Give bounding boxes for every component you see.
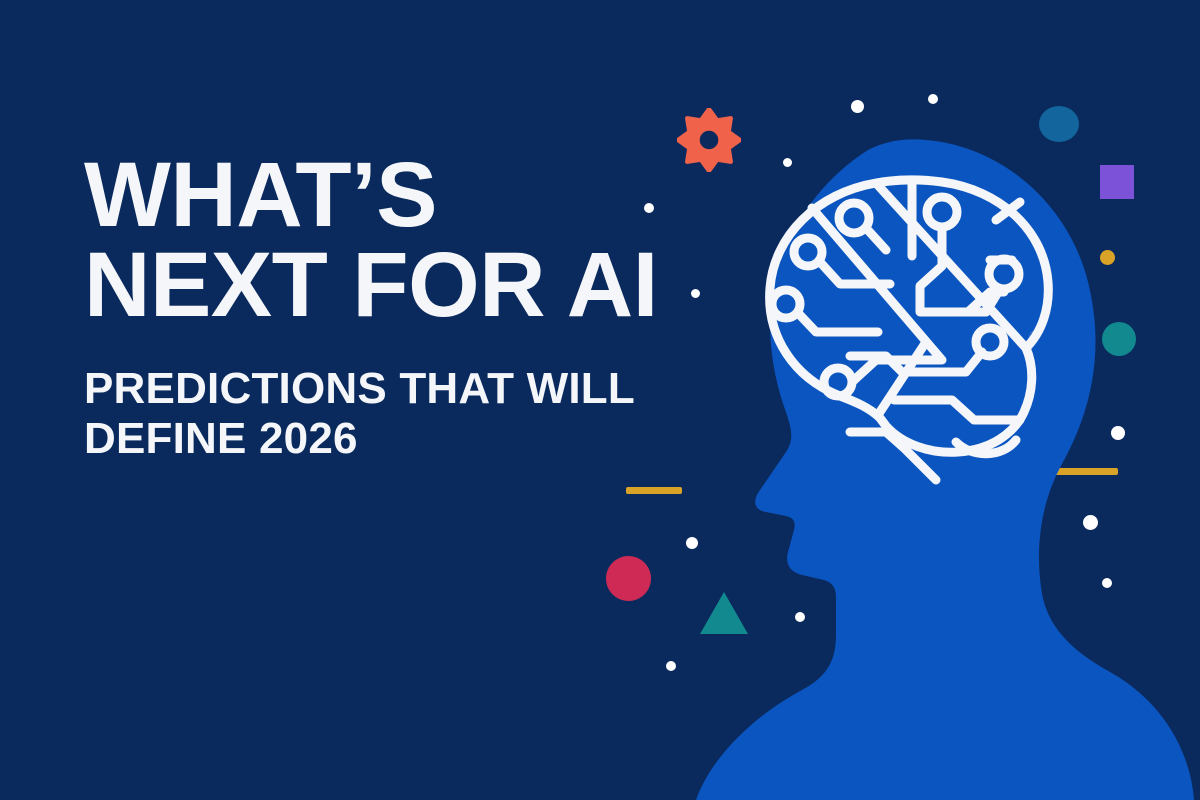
white-dot-11 [666, 661, 676, 671]
headline-line-1: WHAT’S [84, 144, 437, 246]
head-profile-svg [690, 60, 1200, 800]
head-with-brain-illustration [690, 60, 1200, 800]
crimson-circle [606, 556, 651, 601]
headline-block: WHAT’S NEXT FOR AI PREDICTIONS THAT WILL… [84, 150, 704, 463]
subtitle-line-2: DEFINE 2026 [84, 414, 358, 463]
subtitle-line-1: PREDICTIONS THAT WILL [84, 364, 635, 413]
ai-predictions-banner: WHAT’S NEXT FOR AI PREDICTIONS THAT WILL… [0, 0, 1200, 800]
gold-bar-left [626, 487, 682, 494]
page-title: WHAT’S NEXT FOR AI [84, 150, 704, 330]
headline-line-2: NEXT FOR AI [84, 240, 704, 330]
subtitle: PREDICTIONS THAT WILL DEFINE 2026 [84, 364, 704, 463]
